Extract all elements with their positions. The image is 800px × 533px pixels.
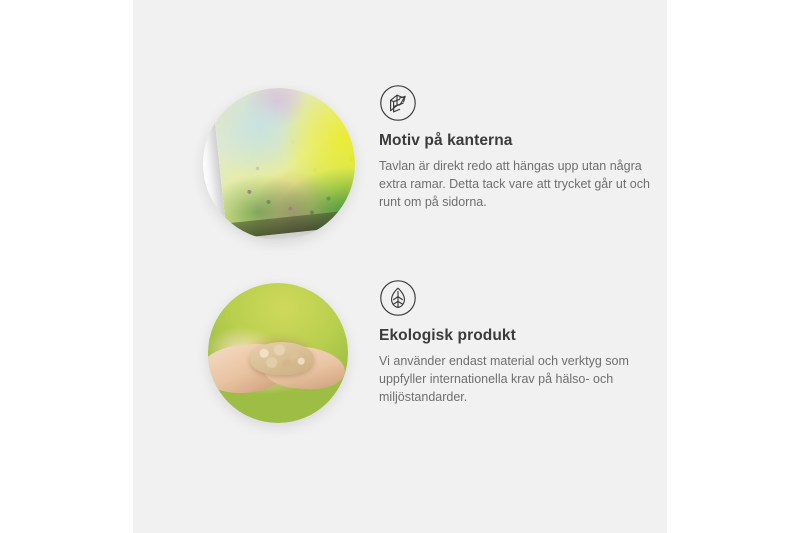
product-feature-panel: Motiv på kanterna Tavlan är direkt redo … (0, 0, 800, 533)
leaf-icon (379, 279, 417, 317)
feature-text-column-1: Motiv på kanterna Tavlan är direkt redo … (365, 80, 679, 211)
feature-block-motiv-pa-kanterna: Motiv på kanterna Tavlan är direkt redo … (195, 80, 679, 250)
wood-chips-photo-wrap (195, 275, 365, 445)
feature-description: Vi använder endast material och verktyg … (379, 352, 651, 407)
feature-block-ekologisk-produkt: Ekologisk produkt Vi använder endast mat… (195, 275, 679, 445)
canvas-print-artwork (212, 88, 355, 239)
wood-chips-photo (208, 283, 348, 423)
feature-description: Tavlan är direkt redo att hängas upp uta… (379, 157, 651, 212)
feature-title: Motiv på kanterna (379, 132, 679, 151)
feature-title: Ekologisk produkt (379, 327, 679, 346)
canvas-print-photo-wrap (195, 80, 365, 250)
canvas-print-photo (203, 88, 355, 240)
feature-text-column-2: Ekologisk produkt Vi använder endast mat… (365, 275, 679, 406)
left-white-band (0, 0, 133, 533)
wood-chips (250, 342, 314, 376)
wrapped-canvas-edge-icon (379, 84, 417, 122)
right-white-band (667, 0, 800, 533)
